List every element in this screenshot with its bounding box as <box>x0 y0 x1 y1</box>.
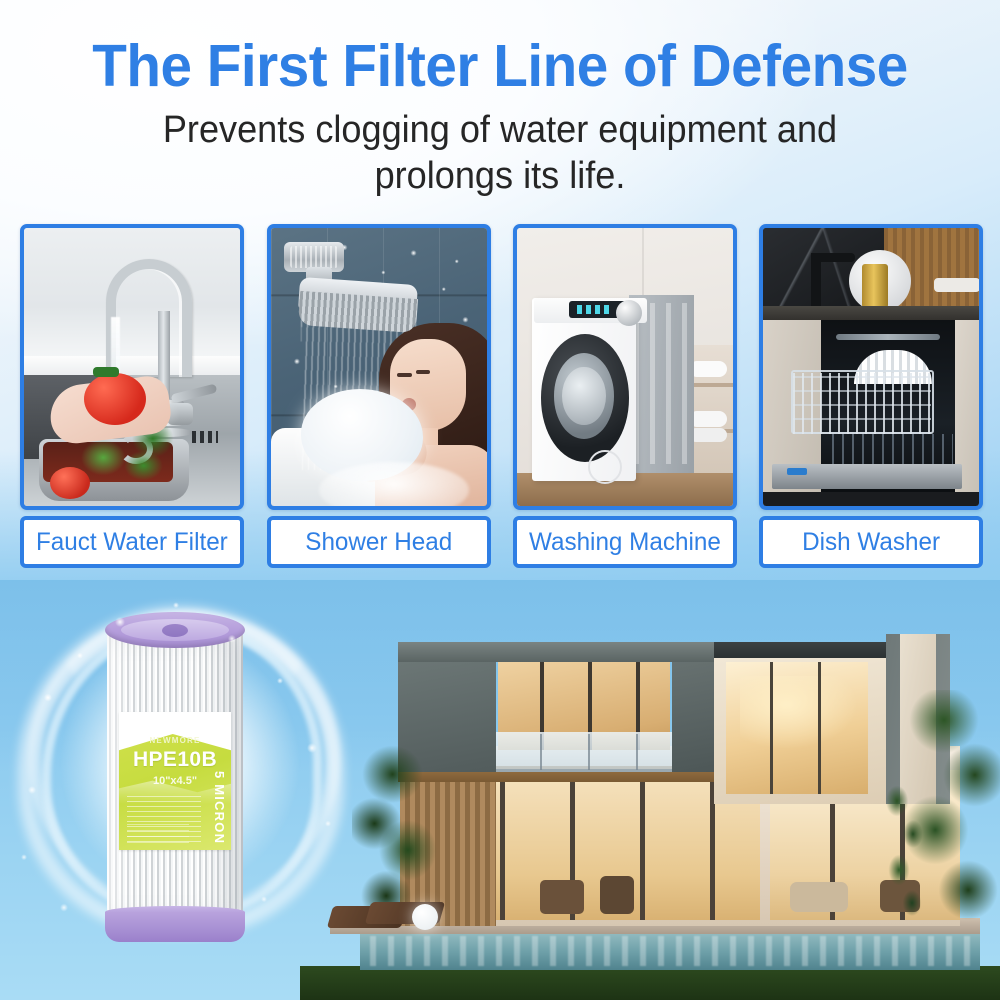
faucet-photo <box>24 228 240 506</box>
use-case-card-washing-machine[interactable] <box>513 224 737 510</box>
water-droplets <box>0 580 400 1000</box>
use-case-card-grid: Fauct Water Filter Shower Head Washing M… <box>0 0 1000 600</box>
use-case-label-shower: Shower Head <box>267 516 491 568</box>
water-splash: NEWMORE HPE10B 10"x4.5" 5 MICRON <box>0 580 400 1000</box>
use-case-label-text: Washing Machine <box>529 528 721 557</box>
use-case-label-dishwasher: Dish Washer <box>759 516 983 568</box>
use-case-label-text: Dish Washer <box>802 528 940 557</box>
use-case-label-faucet: Fauct Water Filter <box>20 516 244 568</box>
dishwasher-photo <box>763 228 979 506</box>
use-case-card-faucet[interactable] <box>20 224 244 510</box>
shower-head-photo <box>271 228 487 506</box>
washing-machine-photo <box>517 228 733 506</box>
use-case-card-dishwasher[interactable] <box>759 224 983 510</box>
marketing-image-canvas: The First Filter Line of Defense Prevent… <box>0 0 1000 1000</box>
bottom-scene: NEWMORE HPE10B 10"x4.5" 5 MICRON <box>0 580 1000 1000</box>
use-case-label-text: Shower Head <box>306 528 453 557</box>
use-case-label-washing-machine: Washing Machine <box>513 516 737 568</box>
use-case-label-text: Fauct Water Filter <box>36 528 228 557</box>
use-case-card-shower[interactable] <box>267 224 491 510</box>
